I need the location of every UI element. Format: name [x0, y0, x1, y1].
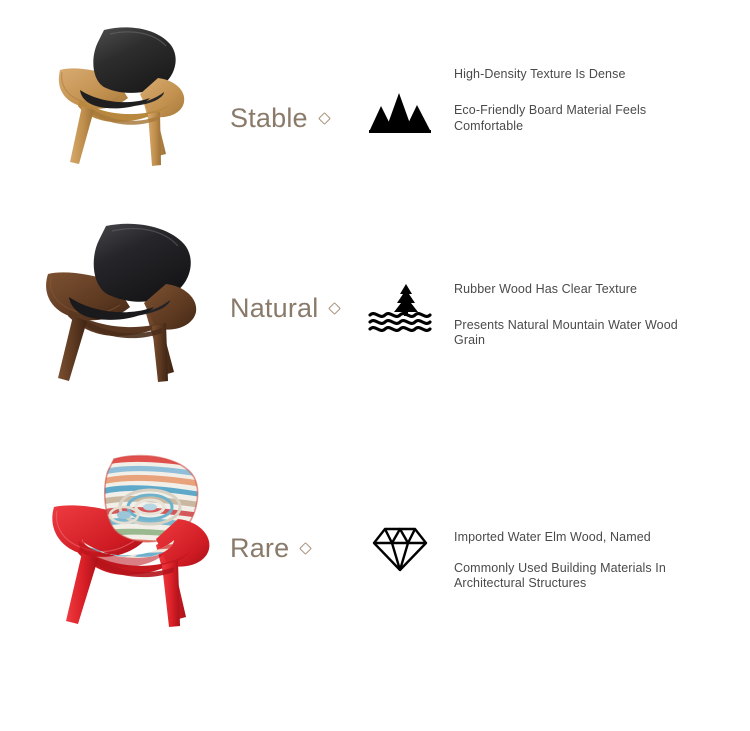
chair-image-cell	[0, 208, 230, 403]
shell-chair-oak-illustration	[40, 22, 200, 172]
feature-title: Natural	[230, 293, 318, 324]
feature-description-cell: High-Density Texture Is Dense Eco-Friend…	[450, 8, 750, 198]
tree-water-icon	[368, 283, 432, 333]
shell-chair-red-multicolor-illustration	[42, 445, 212, 635]
feature-title: Stable	[230, 103, 308, 134]
mountain-icon	[369, 90, 431, 138]
chair-image-cell	[0, 435, 230, 645]
feature-icon-cell	[350, 8, 450, 198]
feature-icon-cell	[350, 435, 450, 645]
feature-row: Stable High-Density Texture Is Dense Eco…	[0, 8, 750, 198]
feature-title-cell: Stable	[230, 8, 350, 198]
feature-description-cell: Rubber Wood Has Clear Texture Presents N…	[450, 208, 750, 403]
feature-row: Natural Rubber Wood Has Clear Texture Pr…	[0, 208, 750, 403]
description-paragraph: Presents Natural Mountain Water Wood Gra…	[454, 318, 694, 348]
shell-chair-walnut-illustration	[32, 220, 204, 390]
diamond-gem-icon	[372, 523, 428, 573]
description-paragraph: High-Density Texture Is Dense	[454, 66, 694, 82]
description-paragraph: Commonly Used Building Materials In Arch…	[454, 561, 694, 591]
description-paragraph: Imported Water Elm Wood, Named	[454, 529, 694, 545]
chair-image-cell	[0, 8, 230, 198]
description-paragraph: Rubber Wood Has Clear Texture	[454, 282, 694, 297]
feature-list: Stable High-Density Texture Is Dense Eco…	[0, 0, 750, 731]
feature-icon-cell	[350, 208, 450, 403]
feature-title-cell: Natural	[230, 208, 350, 403]
feature-description-cell: Imported Water Elm Wood, Named Commonly …	[450, 435, 750, 645]
description-paragraph: Eco-Friendly Board Material Feels Comfor…	[454, 102, 694, 134]
diamond-outline-marker	[299, 542, 312, 555]
diamond-outline-marker	[318, 112, 331, 125]
diamond-outline-marker	[329, 302, 342, 315]
feature-row: Rare Imported Water Elm Wood, Named Comm…	[0, 435, 750, 645]
feature-title-cell: Rare	[230, 435, 350, 645]
feature-title: Rare	[230, 533, 289, 564]
